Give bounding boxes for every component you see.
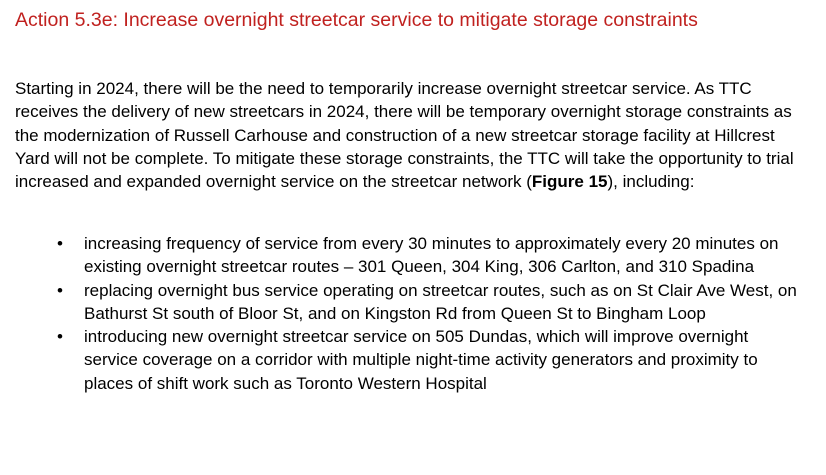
document-page: Action 5.3e: Increase overnight streetca… [0, 0, 826, 475]
list-item-text: introducing new overnight streetcar serv… [84, 325, 804, 395]
intro-paragraph: Starting in 2024, there will be the need… [15, 77, 803, 193]
figure-reference: Figure 15 [532, 172, 608, 191]
bullet-point-icon: • [57, 325, 67, 348]
bullet-point-icon: • [57, 232, 67, 255]
list-item: • replacing overnight bus service operat… [0, 279, 826, 326]
section-heading: Action 5.3e: Increase overnight streetca… [15, 6, 775, 34]
paragraph-text-part-2: ), including: [608, 172, 695, 191]
bullet-list: • increasing frequency of service from e… [0, 232, 826, 395]
list-item-text: increasing frequency of service from eve… [84, 232, 804, 279]
bullet-point-icon: • [57, 279, 67, 302]
list-item: • introducing new overnight streetcar se… [0, 325, 826, 395]
list-item-text: replacing overnight bus service operatin… [84, 279, 804, 326]
list-item: • increasing frequency of service from e… [0, 232, 826, 279]
